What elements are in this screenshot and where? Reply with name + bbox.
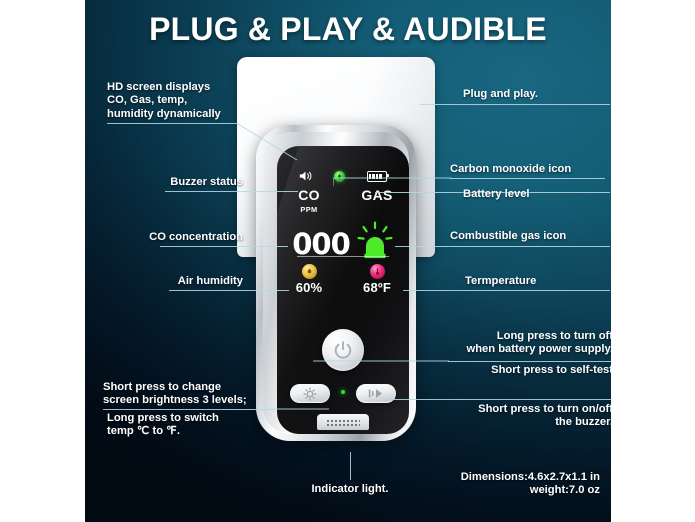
leader-air-humidity [169, 290, 289, 291]
annotation-long-press-power: Long press to turn off when battery powe… [448, 330, 611, 357]
screen-divider [297, 256, 389, 257]
product-infographic: PLUG & PLAY & AUDIBLE [85, 0, 611, 522]
annotation-dimensions: Dimensions:4.6x2.7x1.1 in weight:7.0 oz [420, 471, 600, 498]
device-front-face: CO PPM GAS 000 [277, 146, 409, 434]
co-unit-label: PPM [284, 202, 334, 217]
speaker-grille-holes [326, 419, 360, 427]
co-label: CO [298, 187, 320, 203]
leader-brightness-h [103, 409, 273, 410]
co-value: 000 [292, 229, 350, 259]
annotation-battery-level: Battery level [463, 188, 611, 201]
leader-brightness-diag [271, 395, 331, 421]
combustible-gas-alarm-icon [356, 221, 394, 266]
annotation-buzzer-status: Buzzer status [123, 176, 243, 189]
leader-co-concentration [160, 246, 288, 247]
page-title: PLUG & PLAY & AUDIBLE [85, 11, 611, 48]
annotation-co-concentration: CO concentration [103, 231, 243, 244]
screen-metric-row: 60% 68ºF [277, 264, 409, 295]
temperature-metric: 68ºF [352, 264, 402, 295]
indicator-led [341, 390, 345, 394]
annotation-combustible-gas-icon: Combustible gas icon [450, 230, 611, 243]
leader-temperature [403, 290, 610, 291]
leader-buzzer-btn [385, 399, 611, 400]
temperature-value: 68ºF [352, 280, 402, 295]
gas-label: GAS [352, 188, 402, 203]
annotation-temperature: Termperature [465, 275, 611, 288]
leader-indicator-light [350, 452, 351, 480]
annotation-carbon-monoxide-icon: Carbon monoxide icon [450, 163, 610, 176]
humidity-droplet-icon [302, 264, 317, 279]
leader-co-icon-h [450, 178, 605, 179]
buzzer-button[interactable] [356, 384, 396, 403]
annotation-plug-and-play: Plug and play. [463, 88, 611, 101]
leader-buzzer-status [165, 191, 298, 192]
co-label-group: CO PPM [284, 188, 334, 217]
screen-value-row: 000 [277, 221, 409, 266]
leader-co-icon-diag [333, 166, 453, 188]
leader-power-h [448, 361, 611, 362]
leader-combustible-gas [395, 246, 610, 247]
annotation-long-press-temp: Long press to switch temp ℃ to ℉. [107, 412, 277, 439]
screenshot-stage: PLUG & PLAY & AUDIBLE [0, 0, 695, 522]
humidity-metric: 60% [284, 264, 334, 295]
thermometer-icon [370, 264, 385, 279]
leader-hd-screen-h [107, 123, 239, 124]
annotation-hd-screen: HD screen displays CO, Gas, temp, humidi… [107, 81, 257, 121]
leader-power-diag [313, 350, 451, 374]
annotation-air-humidity: Air humidity [117, 275, 243, 288]
humidity-value: 60% [284, 280, 334, 295]
annotation-short-press-selftest: Short press to self-test [448, 364, 611, 377]
leader-plug-and-play [420, 104, 610, 105]
annotation-indicator-light: Indicator light. [290, 483, 410, 496]
annotation-short-press-buzzer: Short press to turn on/off the buzzer. [448, 403, 611, 430]
annotation-short-press-brightness: Short press to change screen brightness … [103, 381, 273, 408]
speaker-buzzer-icon [299, 170, 312, 182]
